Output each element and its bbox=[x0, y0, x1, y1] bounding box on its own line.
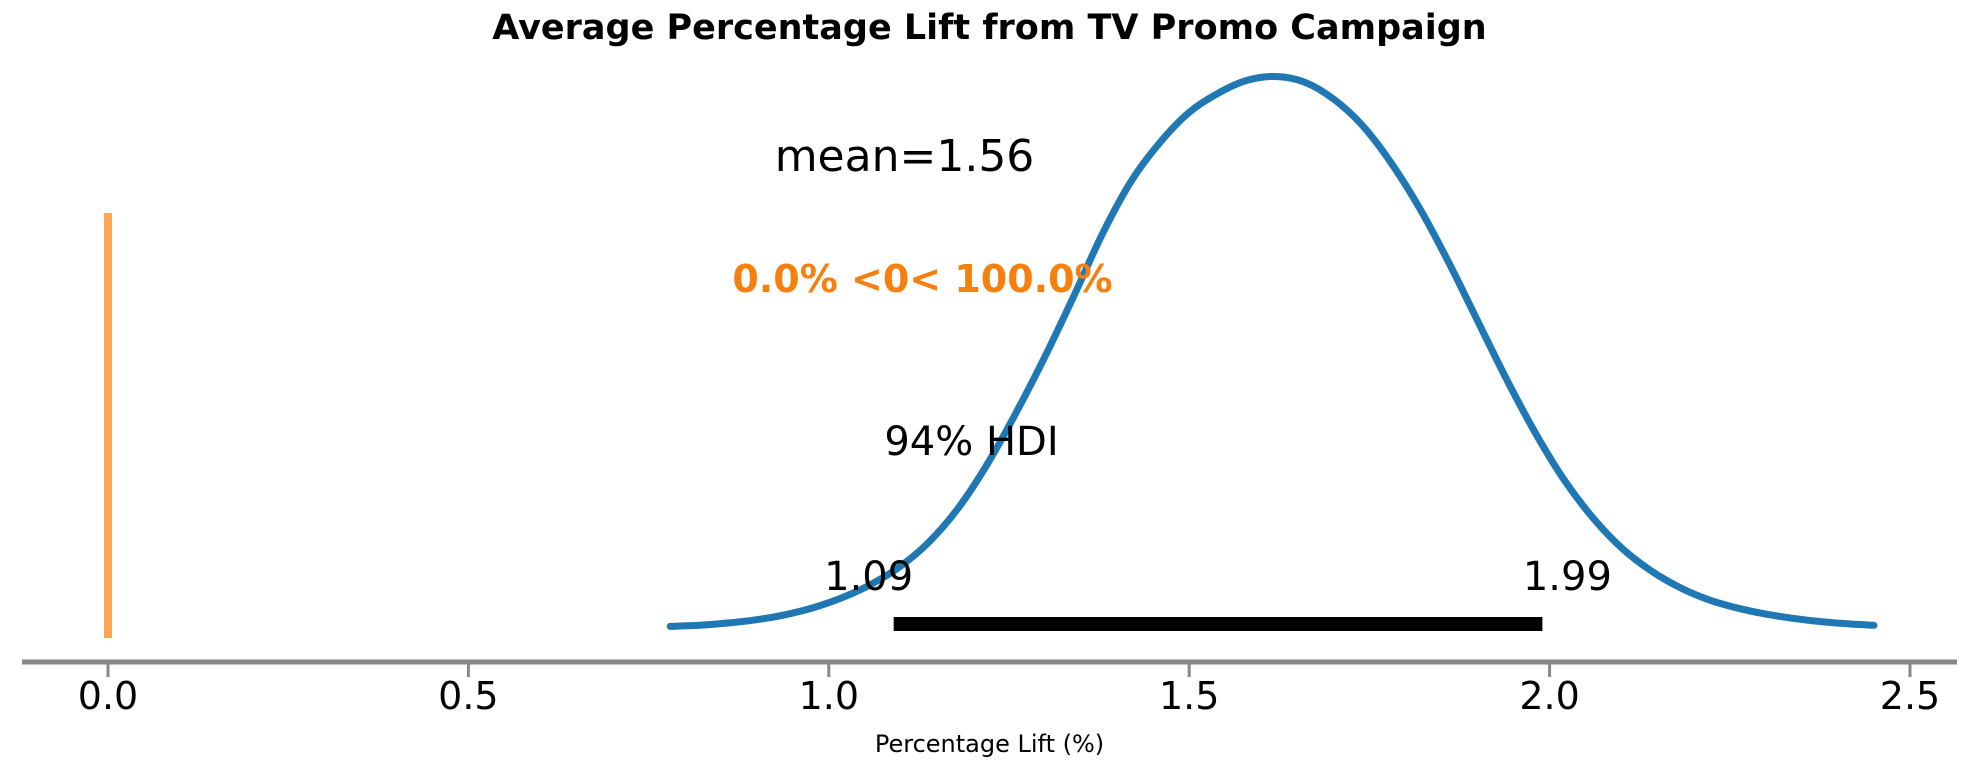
x-tick-label: 2.5 bbox=[1880, 674, 1940, 718]
x-tick-label: 1.0 bbox=[799, 674, 859, 718]
rope-probability-annotation: 0.0% <0< 100.0% bbox=[0, 257, 1912, 301]
plot-canvas bbox=[0, 0, 1979, 780]
x-axis-tick-marks bbox=[108, 664, 1910, 677]
x-tick-label: 2.0 bbox=[1519, 674, 1579, 718]
hdi-label-annotation: 94% HDI bbox=[0, 419, 1961, 465]
x-tick-label: 0.5 bbox=[438, 674, 498, 718]
x-tick-label: 1.5 bbox=[1159, 674, 1219, 718]
posterior-plot-figure: Average Percentage Lift from TV Promo Ca… bbox=[0, 0, 1979, 780]
x-axis-title: Percentage Lift (%) bbox=[0, 730, 1979, 758]
hdi-lower-bound-label: 1.09 bbox=[824, 554, 913, 600]
x-tick-label: 0.0 bbox=[78, 674, 138, 718]
mean-annotation: mean=1.56 bbox=[0, 131, 1894, 182]
hdi-upper-bound-label: 1.99 bbox=[1523, 554, 1612, 600]
